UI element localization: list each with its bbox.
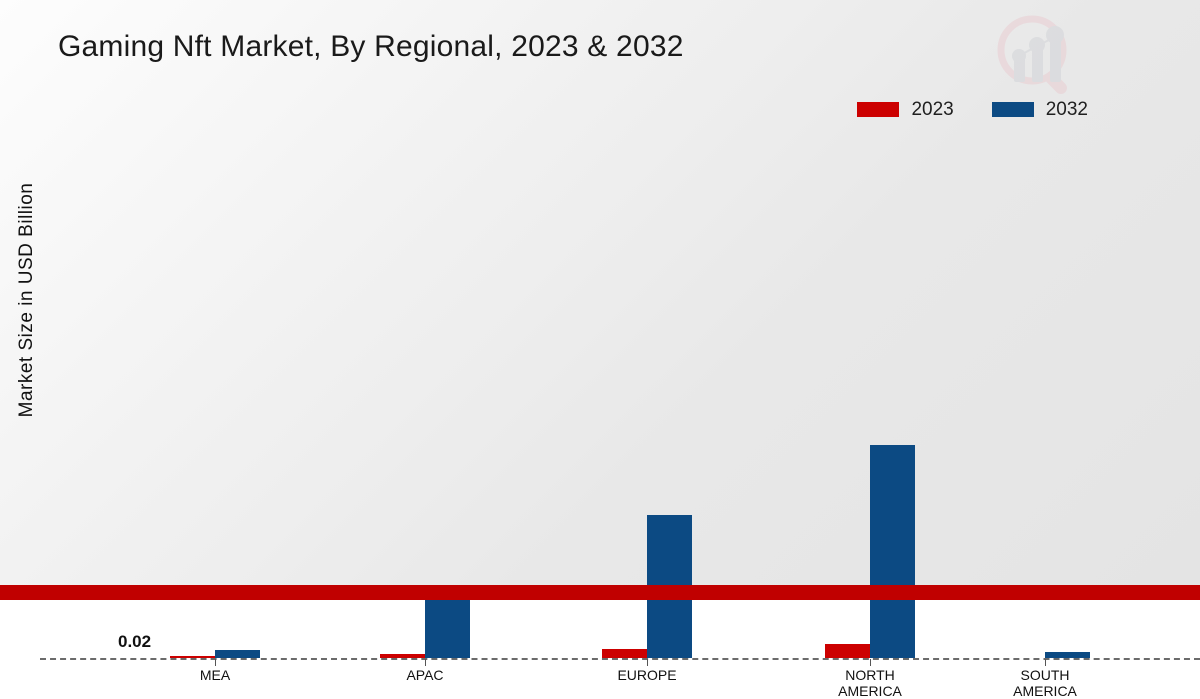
x-axis-tick-europe [647, 659, 648, 666]
plot-area: 0.02 MEA APAC EUROPE NORTH AMERICA SOUTH… [40, 140, 1190, 520]
chart-container: Gaming Nft Market, By Regional, 2023 & 2… [0, 0, 1200, 600]
y-axis-title: Market Size in USD Billion [10, 0, 44, 600]
x-axis-label-north-america: NORTH AMERICA [838, 667, 902, 699]
legend-item-2023[interactable]: 2023 [857, 100, 953, 119]
legend-item-2032[interactable]: 2032 [992, 100, 1088, 119]
data-label-mea-2023: 0.02 [118, 632, 151, 652]
legend-swatch-2023 [857, 102, 899, 117]
bar-2032-mea[interactable] [215, 650, 260, 658]
x-axis-label-apac: APAC [406, 667, 443, 683]
x-axis-label-europe: EUROPE [617, 667, 676, 683]
legend-swatch-2032 [992, 102, 1034, 117]
chart-title: Gaming Nft Market, By Regional, 2023 & 2… [58, 30, 684, 64]
x-axis-tick-south-america [1045, 659, 1046, 666]
brand-watermark-logo [988, 8, 1084, 104]
bar-2032-south-america[interactable] [1045, 652, 1090, 658]
bar-2023-north-america[interactable] [825, 644, 870, 658]
bar-2032-north-america[interactable] [870, 445, 915, 658]
bar-2023-mea[interactable] [170, 656, 215, 658]
bar-2023-apac[interactable] [380, 654, 425, 658]
legend-label-2023: 2023 [911, 100, 953, 119]
x-axis-tick-north-america [870, 659, 871, 666]
footer-accent-stripe [0, 585, 1200, 600]
x-axis-tick-mea [215, 659, 216, 666]
x-axis-tick-apac [425, 659, 426, 666]
bar-2032-apac[interactable] [425, 592, 470, 658]
x-axis-label-south-america: SOUTH AMERICA [1013, 667, 1077, 699]
x-axis-baseline [40, 658, 1200, 660]
x-axis-label-mea: MEA [200, 667, 230, 683]
bar-2023-europe[interactable] [602, 649, 647, 658]
chart-legend: 2023 2032 [857, 100, 1088, 119]
legend-label-2032: 2032 [1046, 100, 1088, 119]
